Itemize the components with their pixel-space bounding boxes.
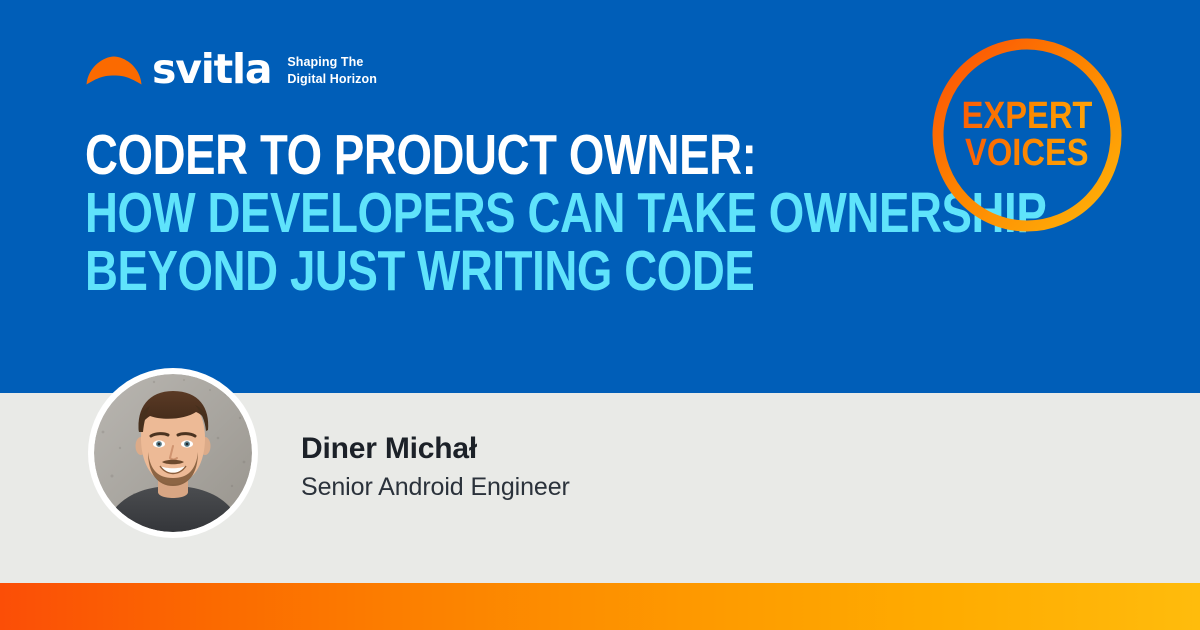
headline-block: Coder to Product Owner: How Developers C… bbox=[85, 126, 915, 300]
badge-line-expert: Expert bbox=[962, 98, 1093, 135]
tagline-line-1: Shaping The bbox=[287, 55, 363, 69]
footer-gradient-bar bbox=[0, 583, 1200, 630]
headline-line-1: Coder to Product Owner: bbox=[85, 126, 749, 184]
svitla-wordmark: svitla bbox=[152, 49, 271, 90]
author-info: Diner Michał Senior Android Engineer bbox=[301, 432, 570, 501]
author-name: Diner Michał bbox=[301, 432, 570, 467]
svitla-logo[interactable]: svitla Shaping The Digital Horizon bbox=[86, 47, 377, 93]
avatar-photo bbox=[94, 374, 252, 532]
svitla-arc-mark-icon bbox=[86, 56, 142, 86]
svitla-tagline: Shaping The Digital Horizon bbox=[287, 54, 377, 87]
headline-line-3: Beyond Just Writing Code bbox=[85, 242, 749, 300]
author-role: Senior Android Engineer bbox=[301, 473, 570, 502]
badge-line-voices: Voices bbox=[965, 135, 1089, 172]
avatar bbox=[88, 368, 258, 538]
tagline-line-2: Digital Horizon bbox=[287, 72, 377, 86]
expert-voices-badge: Expert Voices bbox=[932, 38, 1122, 232]
social-share-banner: svitla Shaping The Digital Horizon Coder… bbox=[0, 0, 1200, 630]
headline-line-2: How Developers Can Take Ownership bbox=[85, 184, 749, 242]
badge-text-block: Expert Voices bbox=[932, 38, 1122, 232]
